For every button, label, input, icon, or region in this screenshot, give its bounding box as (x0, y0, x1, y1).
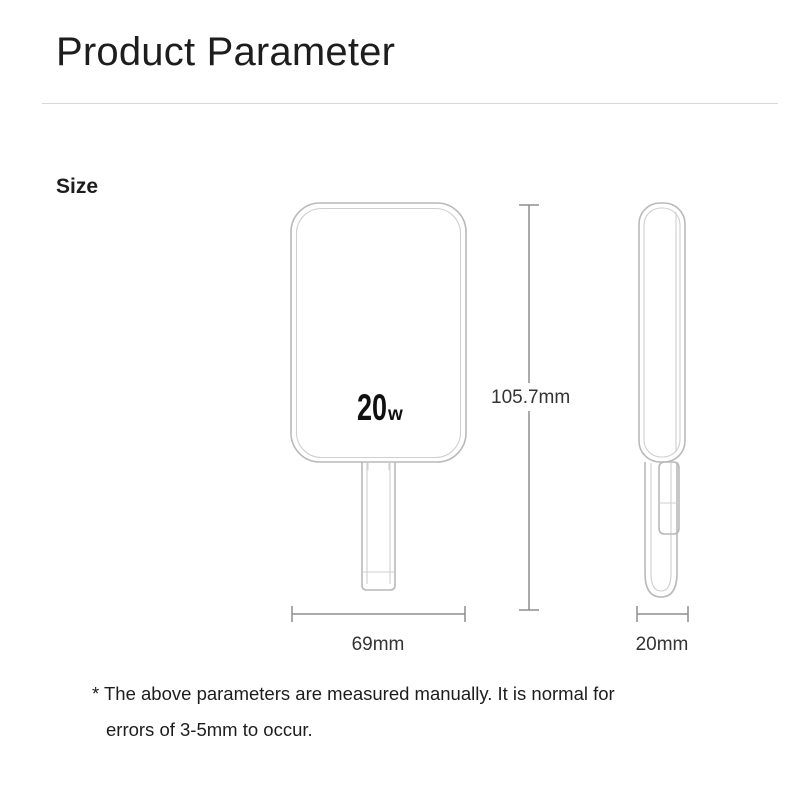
cable-loop-side (645, 462, 677, 597)
dimension-height: 105.7mm (487, 205, 583, 610)
product-parameter-page: Product Parameter Size 20 w (0, 0, 800, 800)
dimension-depth-label: 20mm (636, 634, 689, 655)
product-side-body-inner-edge (644, 208, 680, 457)
connector-plug-side (659, 462, 679, 534)
product-side-view (639, 203, 685, 597)
product-side-body-outline (639, 203, 685, 462)
footnote: * The above parameters are measured manu… (92, 676, 732, 748)
dimension-height-label: 105.7mm (491, 387, 570, 408)
wattage-unit-label: w (387, 404, 403, 425)
footnote-line-2: errors of 3-5mm to occur. (92, 712, 732, 748)
wattage-value-label: 20 (357, 387, 387, 428)
footnote-line-1: * The above parameters are measured manu… (92, 683, 615, 704)
connector-shaft-front (362, 462, 395, 590)
product-front-view: 20 w (291, 203, 466, 590)
dimension-depth: 20mm (636, 606, 689, 655)
dimension-width: 69mm (292, 606, 465, 655)
dimension-width-label: 69mm (352, 634, 405, 655)
